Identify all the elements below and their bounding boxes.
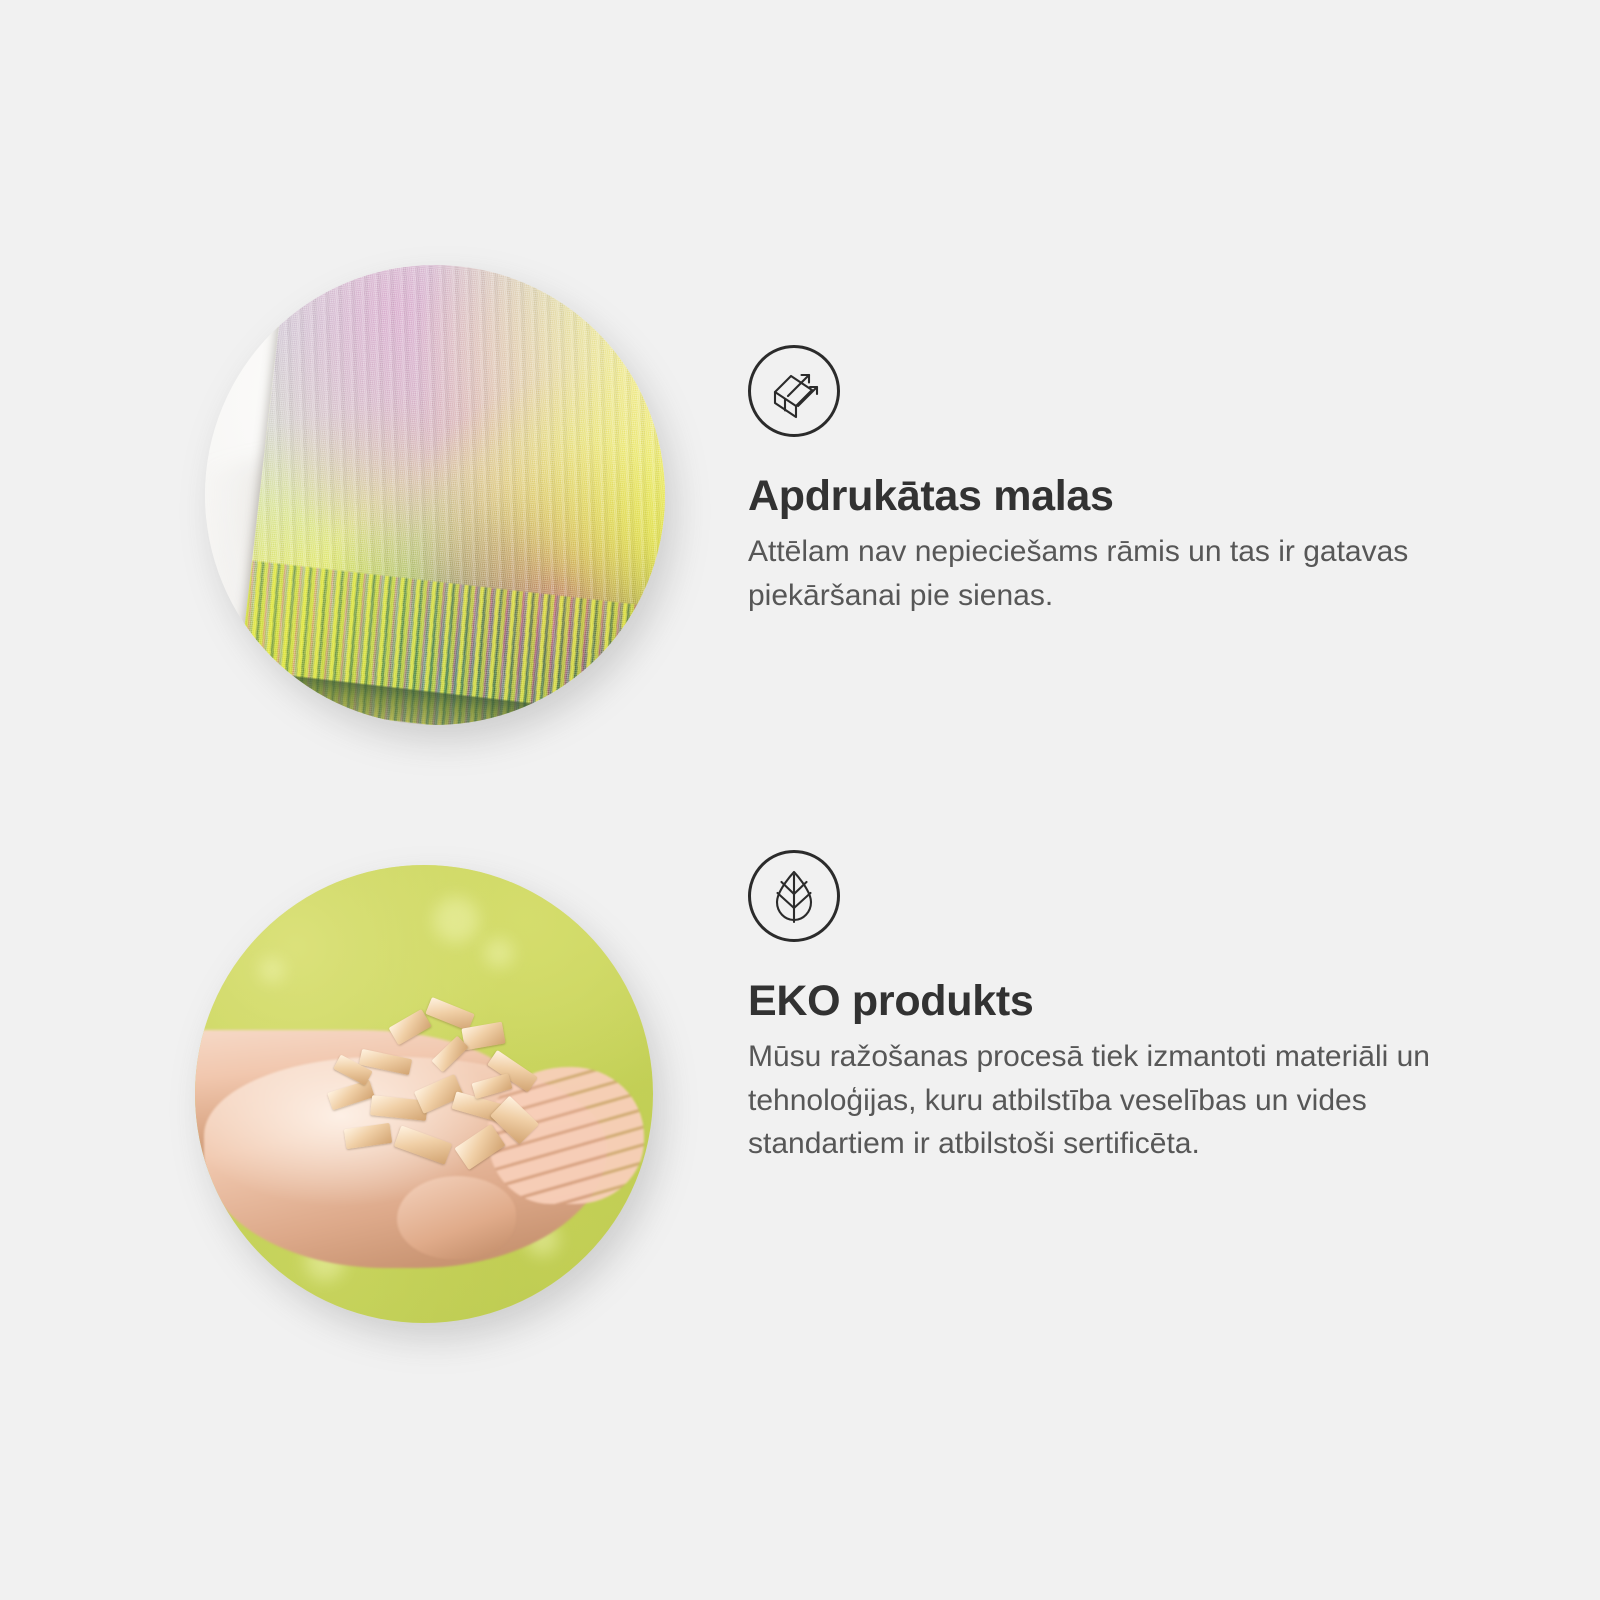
leaf-icon (748, 850, 840, 942)
feature-block-eco-product: EKO produkts Mūsu ražošanas procesā tiek… (0, 850, 1600, 1350)
feature-description: Mūsu ražošanas procesā tiek izmantoti ma… (748, 1035, 1478, 1166)
text-column-eco-product: EKO produkts Mūsu ražošanas procesā tiek… (748, 850, 1600, 1166)
media-column-printed-edges (0, 250, 700, 750)
bokeh-spot (259, 957, 285, 983)
wood-chip (328, 1080, 375, 1111)
wood-chip (394, 1126, 452, 1165)
text-column-printed-edges: Apdrukātas malas Attēlam nav nepieciešam… (748, 345, 1600, 617)
feature-block-printed-edges: Apdrukātas malas Attēlam nav nepieciešam… (0, 250, 1600, 750)
printed-edges-icon (748, 345, 840, 437)
wood-chip (454, 1124, 505, 1170)
canvas-print-corner (236, 265, 665, 725)
feature-title: EKO produkts (748, 978, 1600, 1025)
bokeh-spot (484, 938, 514, 968)
wood-chips-in-hands-photo (195, 865, 653, 1323)
feature-panel: Apdrukātas malas Attēlam nav nepieciešam… (0, 0, 1600, 1600)
wood-chip (431, 1035, 468, 1072)
media-column-eco-product (0, 850, 700, 1350)
canvas-corner-photo (205, 265, 665, 725)
canvas-weave-texture (236, 265, 665, 725)
wood-chip (389, 1009, 432, 1046)
feature-description: Attēlam nav nepieciešams rāmis un tas ir… (748, 530, 1478, 617)
wood-chip (425, 997, 475, 1031)
bokeh-spot (433, 897, 479, 943)
wood-chip (472, 1073, 513, 1099)
feature-title: Apdrukātas malas (748, 473, 1600, 520)
wood-chip (344, 1123, 393, 1149)
wood-chips-pile (314, 993, 570, 1195)
